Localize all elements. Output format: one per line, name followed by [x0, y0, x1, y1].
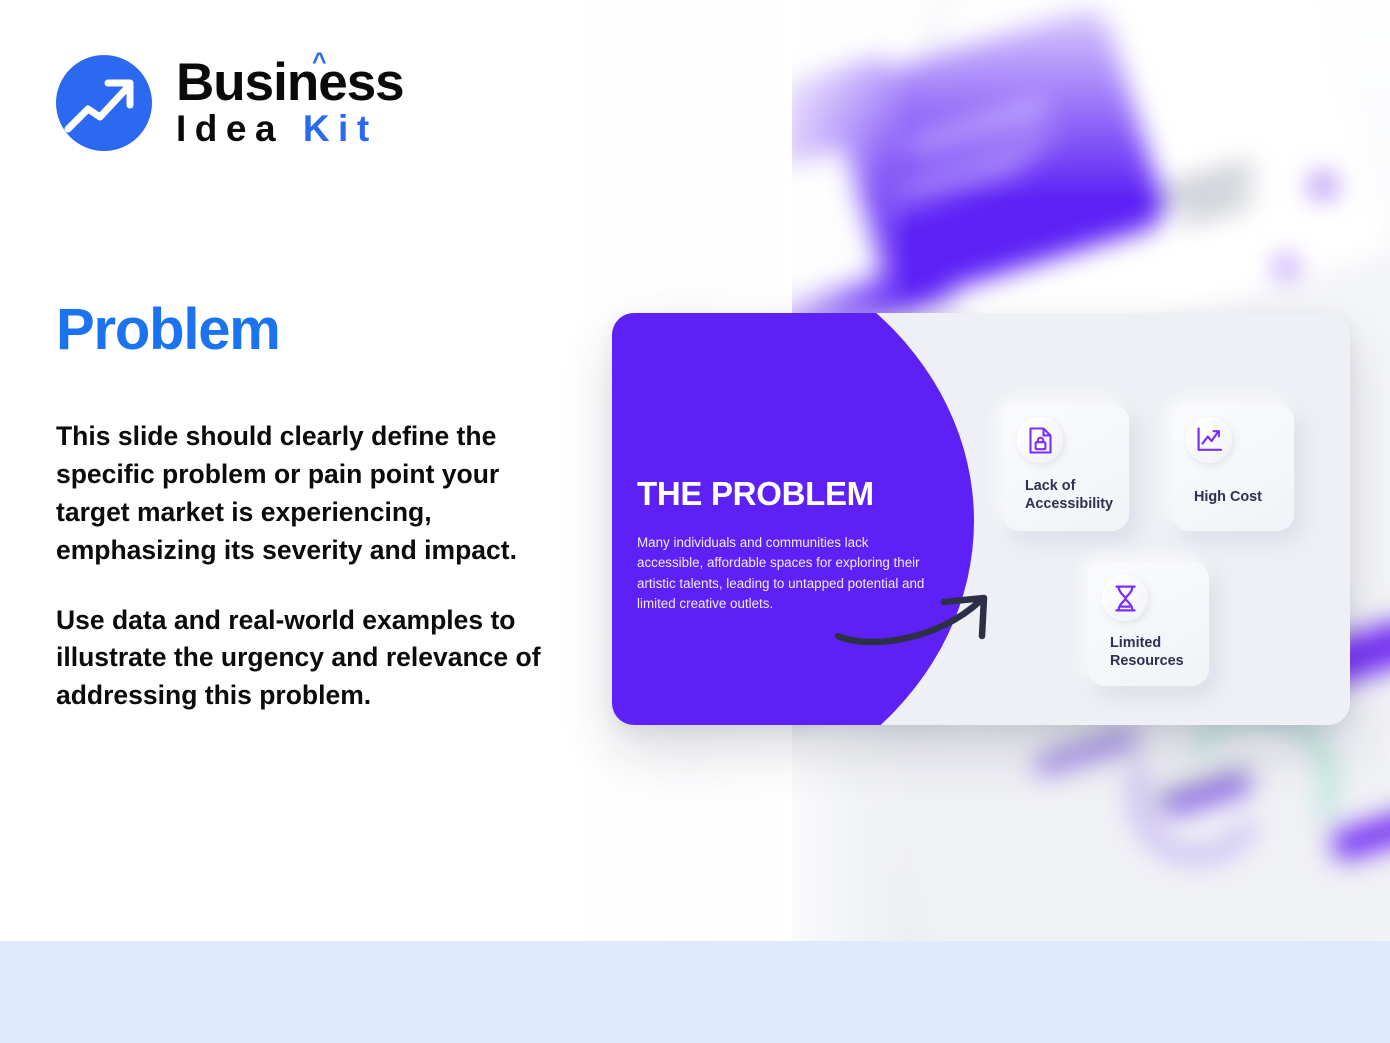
hourglass-icon: [1102, 575, 1148, 621]
description-paragraph-1: This slide should clearly define the spe…: [56, 418, 568, 570]
caret-accent-icon: ^: [312, 50, 326, 74]
purple-circle-shape: [612, 313, 974, 725]
feature-card[interactable]: High Cost: [1172, 404, 1294, 531]
brand-name-line1: Business: [176, 53, 404, 112]
description-paragraph-2: Use data and real-world examples to illu…: [56, 602, 568, 716]
bg-dot: [1277, 258, 1295, 276]
growth-arrow-icon: [56, 55, 152, 151]
description-block: This slide should clearly define the spe…: [56, 418, 568, 715]
document-lock-icon: [1017, 417, 1063, 463]
feature-card-label: Lack of Accessibility: [1025, 477, 1129, 513]
brand-logo[interactable]: Business ^ Idea Kit: [56, 55, 404, 151]
brand-name-accent: Kit: [303, 108, 378, 149]
curved-arrow-up-right-icon: [834, 588, 1014, 648]
slide-heading: THE PROBLEM: [637, 475, 967, 513]
bg-dot: [1310, 172, 1336, 198]
feature-card[interactable]: Limited Resources: [1088, 562, 1209, 686]
page-title: Problem: [56, 296, 280, 363]
brand-wordmark: Business ^ Idea Kit: [176, 57, 404, 148]
feature-card-label: High Cost: [1194, 488, 1298, 506]
feature-card-label: Limited Resources: [1110, 634, 1214, 670]
footer-band: [0, 941, 1390, 1043]
brand-name-line2: Idea: [176, 108, 284, 149]
line-chart-icon: [1186, 417, 1232, 463]
feature-card[interactable]: Lack of Accessibility: [1003, 404, 1129, 531]
slide-preview-canvas: Business ^ Idea Kit Problem This slide s…: [0, 0, 1390, 1043]
slide-thumbnail-card[interactable]: THE PROBLEM Many individuals and communi…: [612, 313, 1350, 725]
